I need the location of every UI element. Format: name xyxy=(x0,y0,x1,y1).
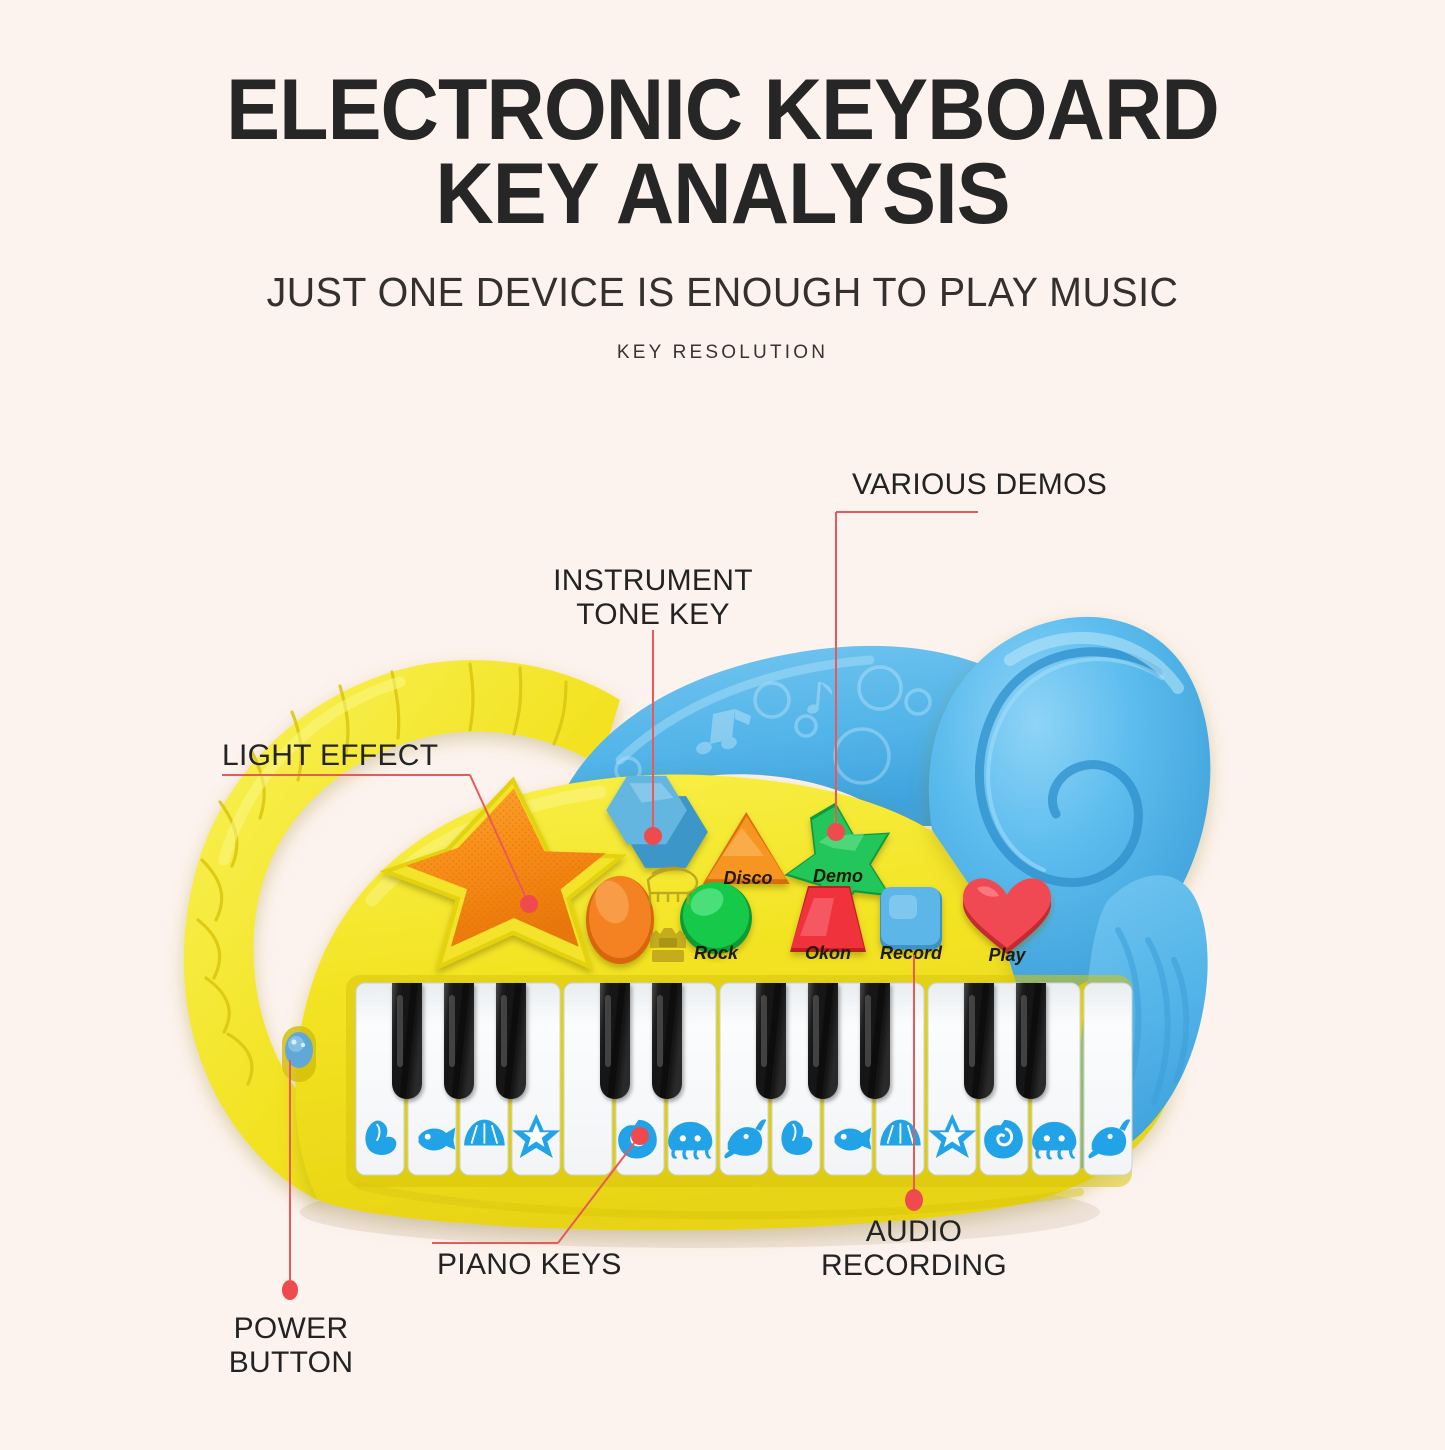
button-label-play: Play xyxy=(952,945,1062,966)
piano-keyboard[interactable] xyxy=(346,975,1132,1187)
button-record[interactable] xyxy=(880,887,942,950)
keyboard-toy-svg xyxy=(0,0,1445,1445)
product-illustration xyxy=(0,0,1445,1445)
callout-audio-recording: AUDIO RECORDING xyxy=(808,1215,1020,1282)
callout-instrument-tone-key: INSTRUMENT TONE KEY xyxy=(545,564,761,631)
black-key[interactable] xyxy=(860,983,890,1099)
black-key[interactable] xyxy=(496,983,526,1099)
black-key[interactable] xyxy=(808,983,838,1099)
callout-light-effect: LIGHT EFFECT xyxy=(222,739,438,773)
black-key[interactable] xyxy=(1016,983,1046,1099)
callout-power-button: POWER BUTTON xyxy=(185,1312,397,1379)
button-label-demo: Demo xyxy=(783,866,893,887)
power-button[interactable] xyxy=(282,1026,316,1082)
black-key[interactable] xyxy=(756,983,786,1099)
callout-piano-keys: PIANO KEYS xyxy=(437,1248,622,1282)
black-key[interactable] xyxy=(600,983,630,1099)
black-key[interactable] xyxy=(964,983,994,1099)
callout-various-demos: VARIOUS DEMOS xyxy=(852,468,1107,502)
black-key[interactable] xyxy=(444,983,474,1099)
black-key[interactable] xyxy=(392,983,422,1099)
button-label-record: Record xyxy=(856,943,966,964)
button-label-rock: Rock xyxy=(661,943,771,964)
black-key[interactable] xyxy=(652,983,682,1099)
button-tone-oval[interactable] xyxy=(586,876,654,964)
